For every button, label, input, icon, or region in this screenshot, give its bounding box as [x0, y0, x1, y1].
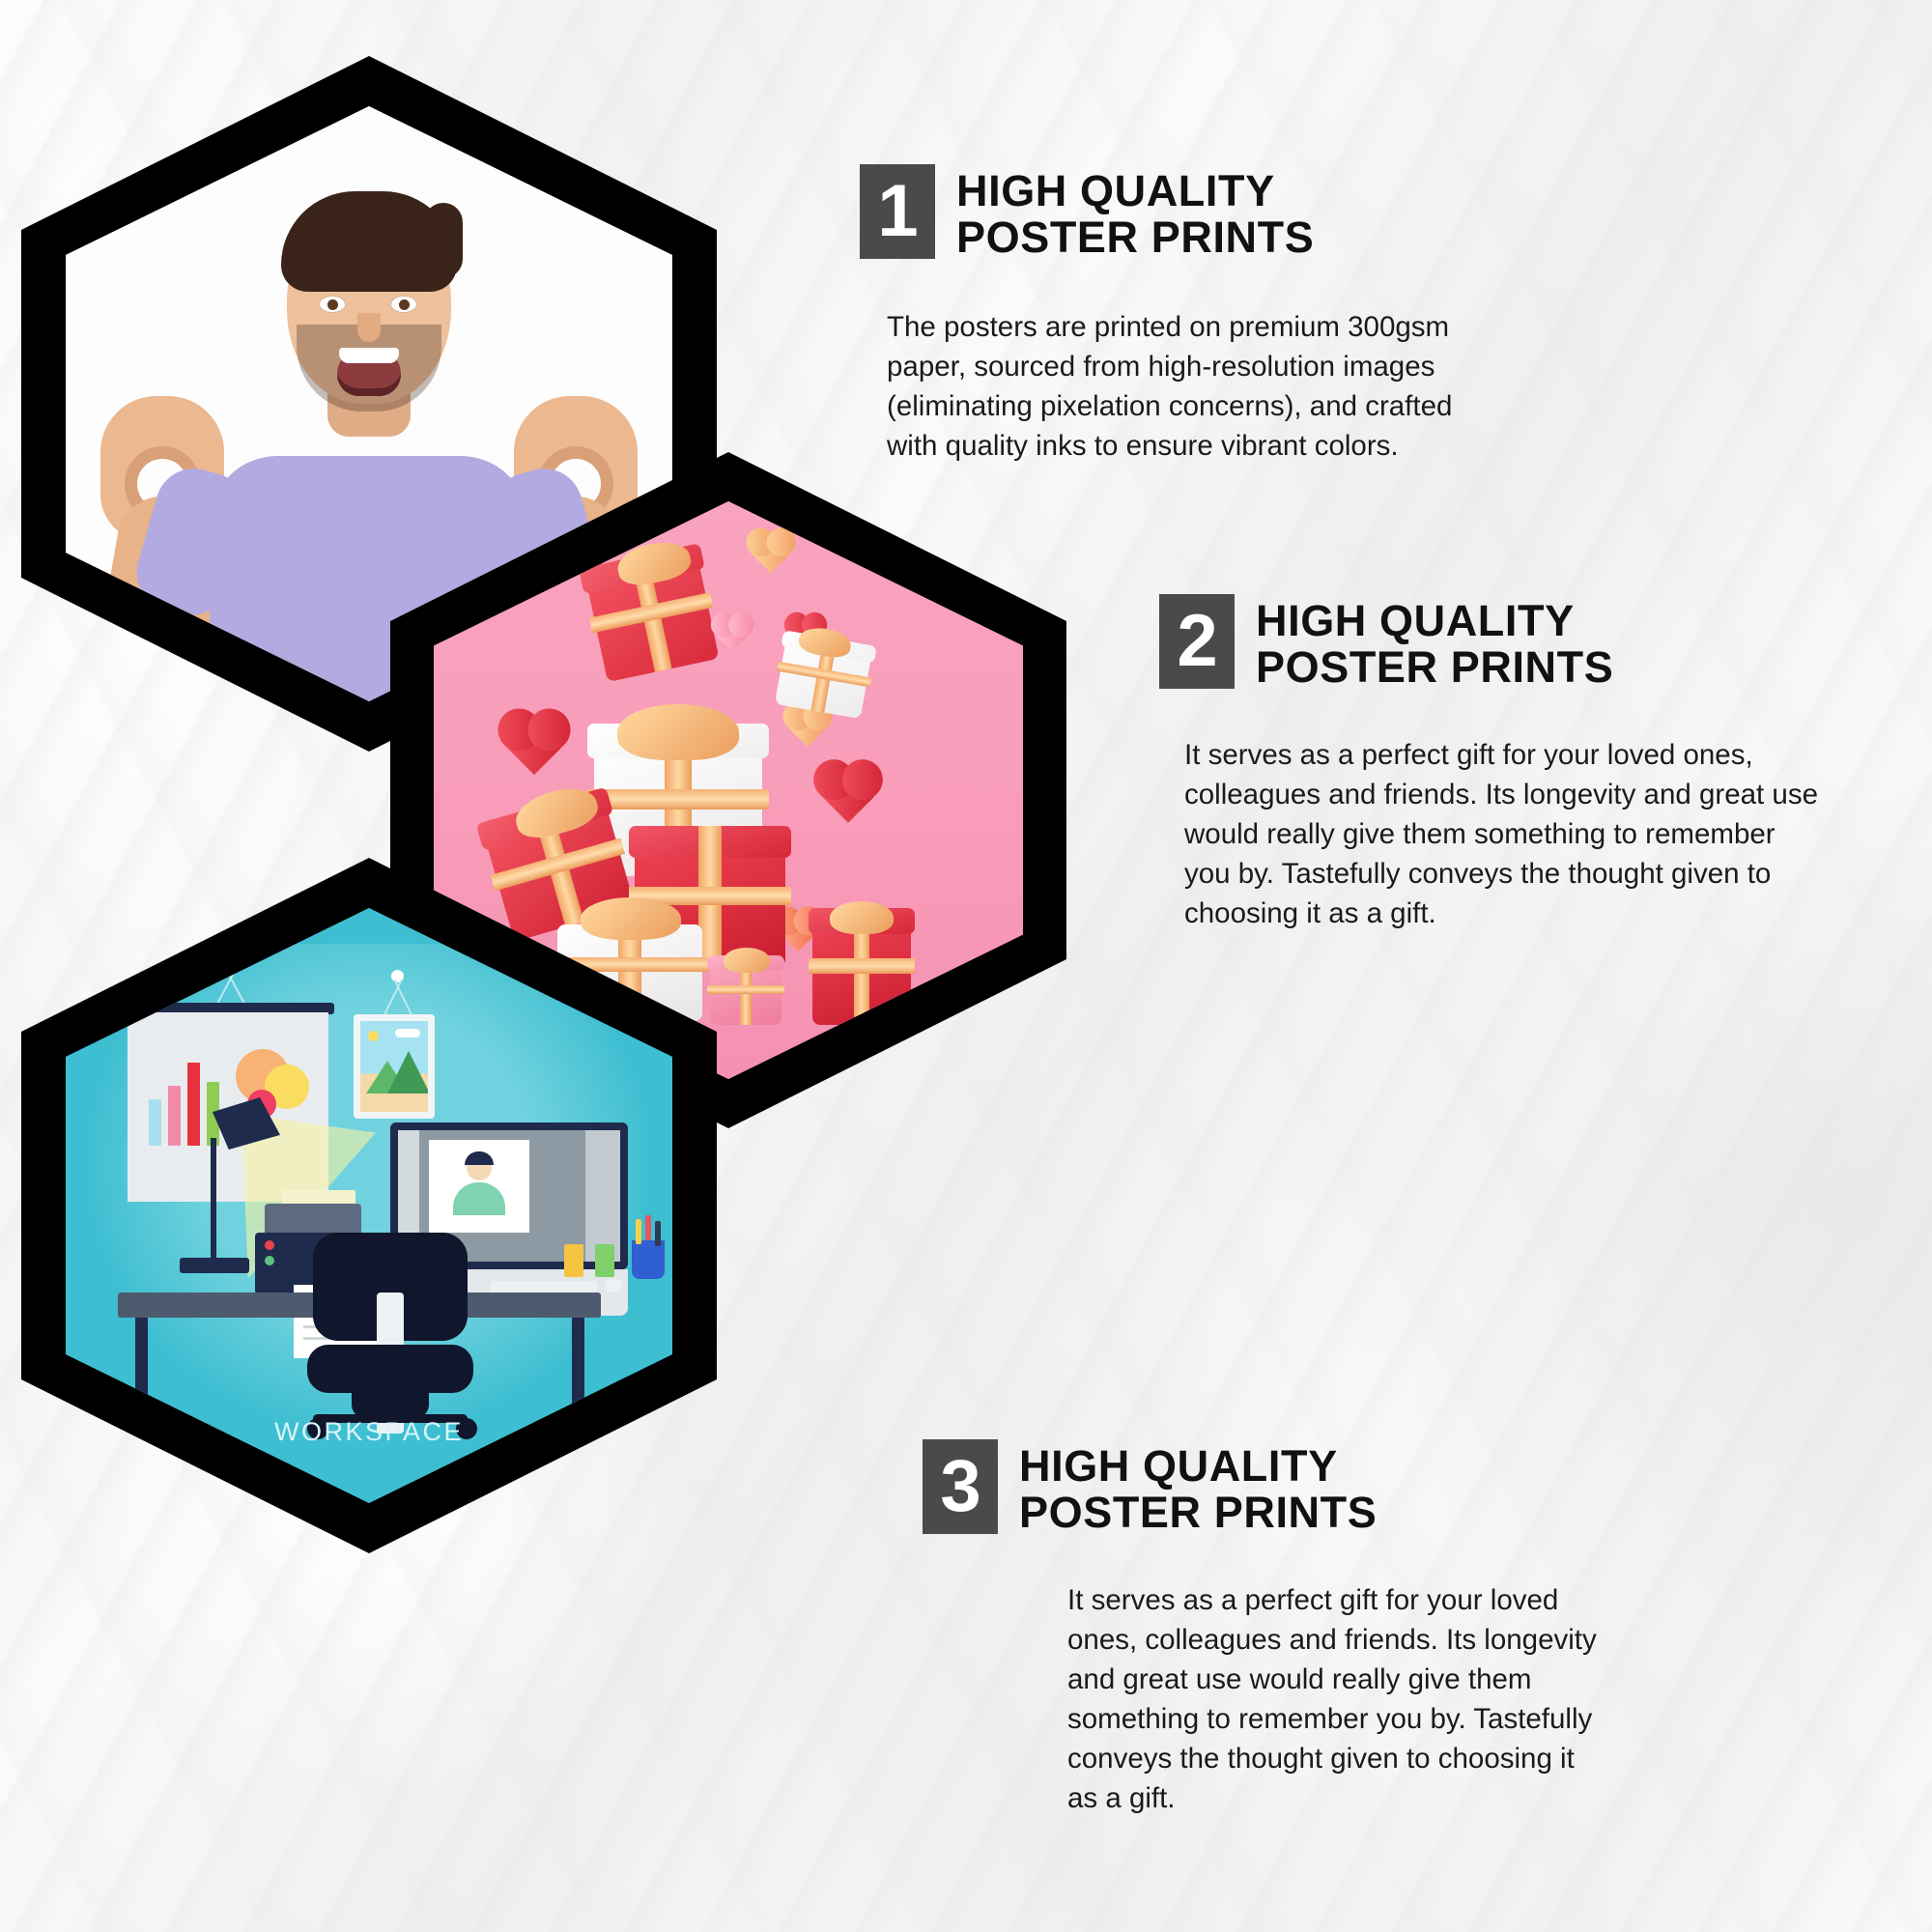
- avatar-hair: [465, 1151, 494, 1165]
- section-3-title: HIGH QUALITY POSTER PRINTS: [1019, 1439, 1377, 1536]
- section-1-body: The posters are printed on premium 300gs…: [887, 307, 1478, 466]
- section-2-heading-row: 2 HIGH QUALITY POSTER PRINTS: [1159, 594, 1835, 691]
- pen-cup: [632, 1240, 665, 1279]
- pen-red: [645, 1215, 651, 1240]
- section-1-number-badge: 1: [860, 164, 935, 259]
- mouse: [605, 1279, 622, 1293]
- infographic-page: WORKSPACE 1 HIGH QUALITY POSTER PRINTS T…: [0, 0, 1932, 1932]
- section-2-title: HIGH QUALITY POSTER PRINTS: [1256, 594, 1613, 691]
- section-2-body: It serves as a perfect gift for your lov…: [1184, 735, 1822, 933]
- gift-box-small-pink: [710, 965, 781, 1025]
- notebook-yellow: [564, 1244, 583, 1277]
- sun-icon: [368, 1031, 379, 1041]
- printer-status-light-green: [265, 1256, 274, 1265]
- heart-red-left: [504, 715, 564, 775]
- pen-dark: [655, 1221, 661, 1246]
- landscape-artwork: [360, 1021, 428, 1112]
- section-3-text-block: 3 HIGH QUALITY POSTER PRINTS It serves a…: [923, 1439, 1599, 1818]
- office-chair-seat: [307, 1345, 473, 1393]
- eye-right: [390, 296, 417, 313]
- heart-pink-small: [715, 616, 751, 652]
- bow-right-red: [830, 901, 894, 934]
- nose: [357, 313, 381, 342]
- editor-palette-panel: [585, 1130, 620, 1262]
- hair: [281, 191, 457, 292]
- pen-yellow: [636, 1219, 641, 1244]
- printer-tray: [265, 1204, 361, 1236]
- avatar-body: [453, 1182, 505, 1215]
- section-1-title: HIGH QUALITY POSTER PRINTS: [956, 164, 1314, 261]
- heart-gold-top: [751, 532, 791, 573]
- wall-picture-frame: [354, 1014, 435, 1119]
- editor-canvas: [429, 1140, 529, 1233]
- section-2-text-block: 2 HIGH QUALITY POSTER PRINTS It serves a…: [1159, 594, 1835, 933]
- section-1-heading-row: 1 HIGH QUALITY POSTER PRINTS: [860, 164, 1478, 261]
- heart-red-mid-right: [819, 765, 876, 822]
- section-3-heading-row: 3 HIGH QUALITY POSTER PRINTS: [923, 1439, 1599, 1536]
- section-2-number-badge: 2: [1159, 594, 1235, 689]
- printer-power-light-red: [265, 1240, 274, 1250]
- section-3-body: It serves as a perfect gift for your lov…: [1067, 1580, 1608, 1818]
- chart-bar-1: [149, 1099, 161, 1146]
- desk-lamp-base: [180, 1258, 249, 1273]
- bow-small-pink: [724, 948, 770, 973]
- bow-center-white-box: [617, 704, 739, 760]
- section-1-text-block: 1 HIGH QUALITY POSTER PRINTS The posters…: [860, 164, 1478, 466]
- eye-left: [319, 296, 346, 313]
- chart-bar-2: [168, 1086, 181, 1146]
- mountain-shape-right: [387, 1051, 428, 1094]
- section-3-number-badge: 3: [923, 1439, 998, 1534]
- teeth: [339, 348, 399, 363]
- cloud-icon: [395, 1029, 420, 1037]
- desk-lamp-arm: [211, 1138, 216, 1262]
- notebook-green: [595, 1244, 614, 1277]
- chart-bar-3: [187, 1063, 200, 1146]
- bow-bottom-white: [581, 897, 681, 940]
